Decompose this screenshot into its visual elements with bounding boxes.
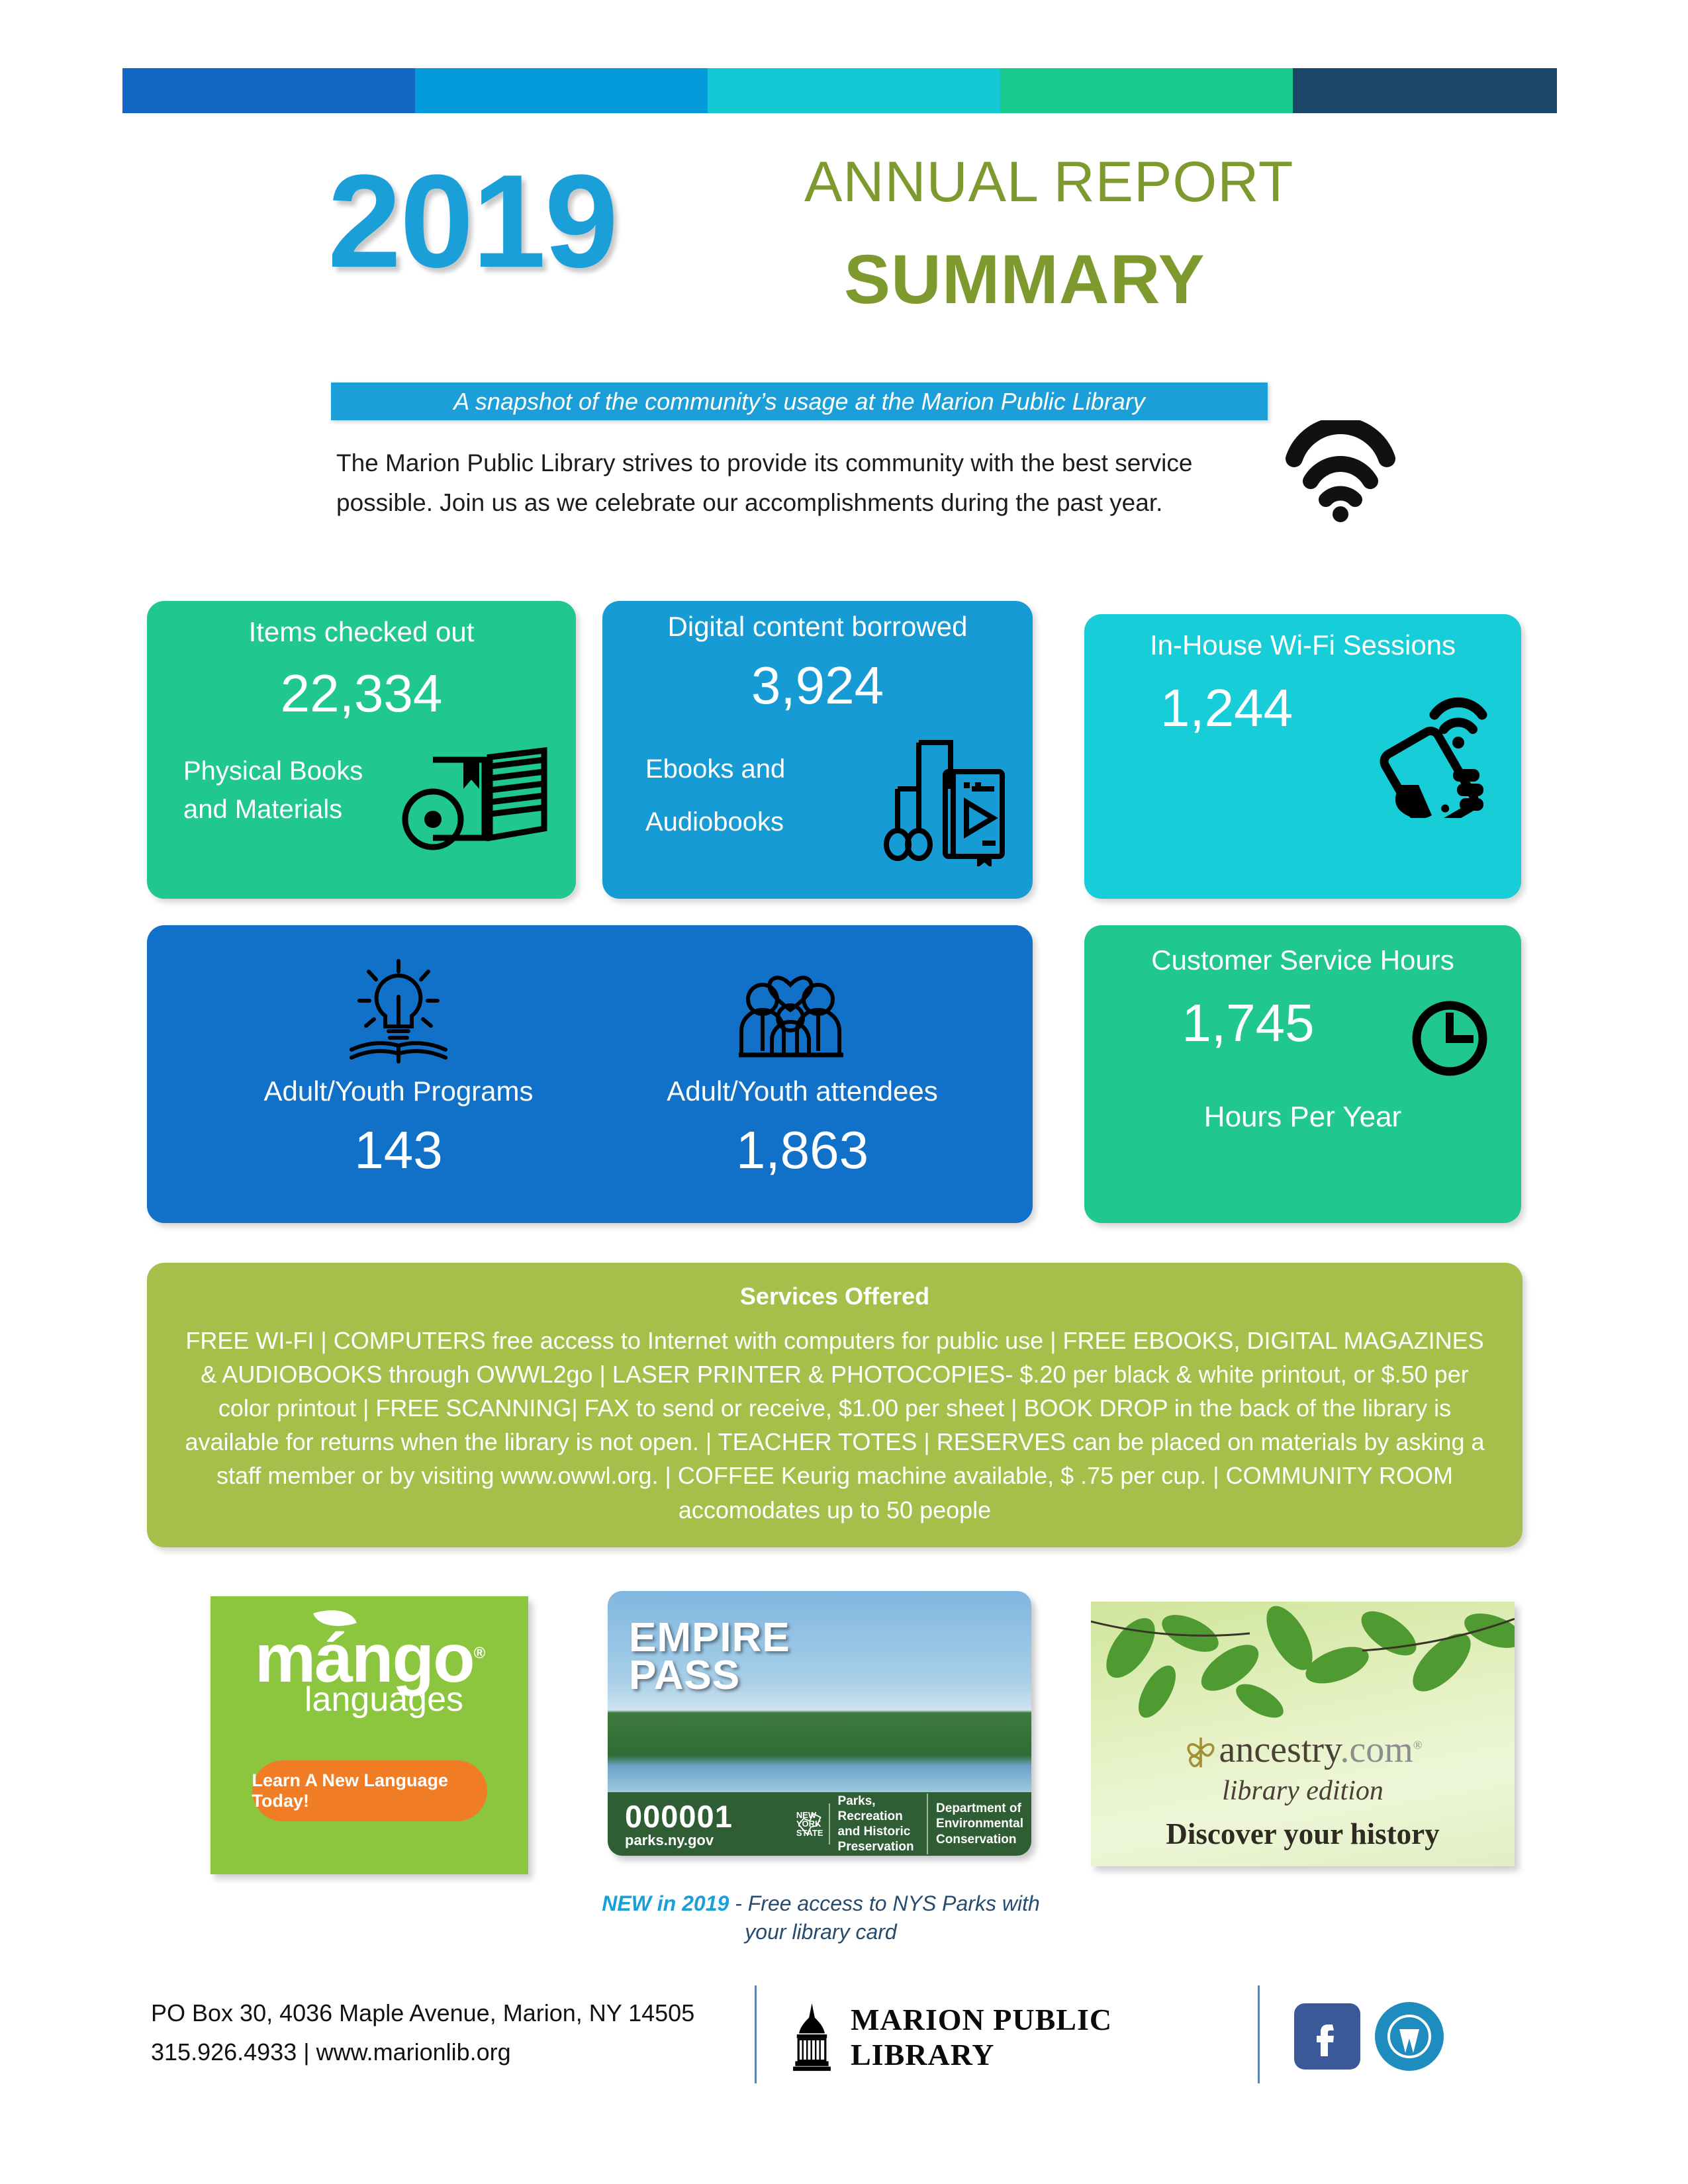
color-band-segment-4 bbox=[1000, 68, 1293, 113]
color-band-segment-3 bbox=[708, 68, 1000, 113]
library-logo: MARION PUBLIC LIBRARY bbox=[788, 1997, 1238, 2077]
new-york-state-seal-icon: NEW YORK STATE bbox=[796, 1803, 830, 1844]
stat-sublabel-line2: and Materials bbox=[183, 790, 402, 829]
lightbulb-book-idea-icon bbox=[342, 957, 455, 1066]
empire-pass-caption: NEW in 2019 - Free access to NYS Parks w… bbox=[583, 1889, 1059, 1946]
library-name: MARION PUBLIC LIBRARY bbox=[851, 2002, 1238, 2072]
services-body: FREE WI-FI | COMPUTERS free access to In… bbox=[175, 1324, 1495, 1527]
partner-card-ancestry[interactable]: ancestry.com® library edition Discover y… bbox=[1091, 1602, 1515, 1866]
stat-card-wifi-sessions: In-House Wi-Fi Sessions 1,244 bbox=[1084, 614, 1521, 899]
intro-paragraph: The Marion Public Library strives to pro… bbox=[336, 443, 1217, 523]
color-band-segment-5 bbox=[1293, 68, 1557, 113]
report-kicker: ANNUAL REPORT bbox=[804, 154, 1293, 210]
social-links bbox=[1294, 1993, 1473, 2079]
footer-divider-right bbox=[1258, 1985, 1260, 2083]
stat-value: 1,244 bbox=[1084, 682, 1369, 735]
wifi-icon bbox=[1274, 420, 1407, 526]
stat-label: Digital content borrowed bbox=[602, 612, 1033, 642]
stat-card-programs: Adult/Youth Programs Adult/Youth attende… bbox=[147, 925, 1033, 1223]
leaves-decoration-icon bbox=[1091, 1602, 1515, 1727]
open-book-with-cd-icon bbox=[392, 747, 557, 862]
library-contact: 315.926.4933 | www.marionlib.org bbox=[151, 2032, 694, 2071]
empire-pass-dept-parks: Parks, Recreation and Historic Preservat… bbox=[838, 1794, 929, 1855]
footer-divider-left bbox=[755, 1985, 757, 2083]
page-title: SUMMARY bbox=[844, 245, 1205, 314]
stat-sublabel: Ebooks and Audiobooks bbox=[645, 750, 864, 841]
stat-label-programs: Adult/Youth Programs bbox=[193, 1076, 604, 1107]
empire-pass-serial: 000001 bbox=[625, 1800, 733, 1833]
color-band bbox=[122, 68, 1557, 113]
services-title: Services Offered bbox=[147, 1283, 1523, 1310]
stat-sublabel: Physical Books and Materials bbox=[183, 752, 402, 829]
stat-value: 1,745 bbox=[1098, 997, 1399, 1050]
ancestry-edition: library edition bbox=[1091, 1775, 1515, 1807]
empire-pass-serial-block: 000001 parks.ny.gov bbox=[625, 1800, 733, 1848]
stat-value: 3,924 bbox=[602, 659, 1033, 712]
empire-pass-title: EMPIRE PASS bbox=[629, 1619, 790, 1694]
stat-value-programs: 143 bbox=[193, 1124, 604, 1177]
empire-pass-footer-bar: 000001 parks.ny.gov NEW YORK STATE Parks… bbox=[608, 1792, 1031, 1856]
ancestry-brand-text: ancestry bbox=[1219, 1729, 1340, 1770]
library-address: PO Box 30, 4036 Maple Avenue, Marion, NY… bbox=[151, 1993, 694, 2032]
hand-holding-phone-wifi-icon bbox=[1366, 686, 1498, 818]
stat-label: In-House Wi-Fi Sessions bbox=[1084, 630, 1521, 660]
empire-pass-title-line1: EMPIRE bbox=[629, 1619, 790, 1657]
report-year: 2019 bbox=[328, 156, 617, 288]
ancestry-logo: ancestry.com® bbox=[1091, 1731, 1515, 1770]
partner-card-empire-pass[interactable]: EMPIRE PASS 000001 parks.ny.gov NEW YORK… bbox=[608, 1591, 1031, 1856]
mango-brand-text: mángo bbox=[255, 1620, 474, 1697]
headphones-ebook-icon bbox=[879, 731, 1011, 866]
stat-value-attendees: 1,863 bbox=[597, 1124, 1008, 1177]
wordpress-icon[interactable] bbox=[1375, 2002, 1444, 2071]
stat-sublabel-line1: Ebooks and bbox=[645, 750, 864, 788]
color-band-segment-1 bbox=[122, 68, 415, 113]
stat-sublabel-line2: Audiobooks bbox=[645, 803, 864, 841]
stat-sublabel-line1: Physical Books bbox=[183, 752, 402, 790]
contact-block: PO Box 30, 4036 Maple Avenue, Marion, NY… bbox=[151, 1993, 694, 2072]
services-offered-panel: Services Offered FREE WI-FI | COMPUTERS … bbox=[147, 1263, 1523, 1547]
stat-label-attendees: Adult/Youth attendees bbox=[597, 1076, 1008, 1107]
stat-card-service-hours: Customer Service Hours 1,745 Hours Per Y… bbox=[1084, 925, 1521, 1223]
stat-card-digital-content: Digital content borrowed 3,924 Ebooks an… bbox=[602, 601, 1033, 899]
family-group-heart-icon bbox=[729, 953, 852, 1066]
color-band-segment-2 bbox=[415, 68, 708, 113]
learn-language-button[interactable]: Learn A New Language Today! bbox=[252, 1760, 487, 1821]
tagline-banner: A snapshot of the community’s usage at t… bbox=[331, 383, 1268, 420]
ancestry-dotcom-text: .com bbox=[1340, 1729, 1413, 1770]
stat-value: 22,334 bbox=[147, 667, 576, 720]
stat-label: Customer Service Hours bbox=[1084, 945, 1521, 976]
empire-pass-caption-highlight: NEW in 2019 bbox=[602, 1891, 729, 1915]
footer: PO Box 30, 4036 Maple Avenue, Marion, NY… bbox=[0, 1985, 1688, 2118]
empire-pass-title-line2: PASS bbox=[629, 1657, 790, 1694]
mango-logo: mángo® bbox=[255, 1624, 485, 1693]
facebook-icon[interactable] bbox=[1294, 2003, 1360, 2070]
empire-pass-url: parks.ny.gov bbox=[625, 1833, 733, 1848]
clock-icon bbox=[1409, 997, 1491, 1079]
partner-card-mango-languages[interactable]: mángo® languages Learn A New Language To… bbox=[211, 1596, 528, 1874]
registered-mark: ® bbox=[474, 1644, 485, 1662]
annual-report-page: 2019 ANNUAL REPORT SUMMARY A snapshot of… bbox=[0, 0, 1688, 2184]
empire-pass-caption-text: - Free access to NYS Parks with your lib… bbox=[729, 1891, 1039, 1944]
registered-mark: ® bbox=[1413, 1738, 1423, 1751]
empire-pass-dept-dec: Department of Environmental Conservation bbox=[936, 1801, 1031, 1847]
lantern-logo-icon bbox=[788, 2000, 836, 2074]
stat-label: Items checked out bbox=[147, 617, 576, 647]
ancestry-tagline: Discover your history bbox=[1091, 1817, 1515, 1851]
stat-card-items-checked-out: Items checked out 22,334 Physical Books … bbox=[147, 601, 576, 899]
stat-sublabel: Hours Per Year bbox=[1084, 1096, 1521, 1138]
